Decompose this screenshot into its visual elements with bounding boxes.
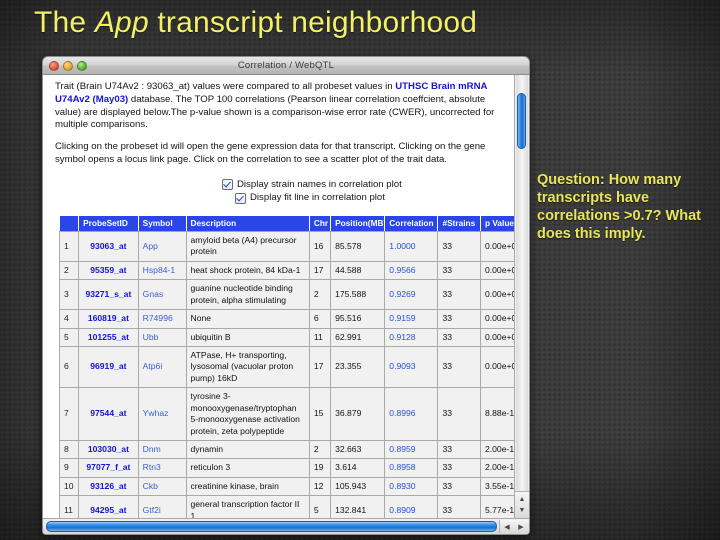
cell-pvalue: 2.00e-15 [480,440,514,458]
table-row: 696919_atAtp6iATPase, H+ transporting, l… [60,346,515,387]
cell-symbol[interactable]: App [138,232,186,262]
cell-pvalue: 8.88e-16 [480,388,514,441]
window-titlebar[interactable]: Correlation / WebQTL [43,57,529,75]
cell-description: dynamin [186,440,309,458]
vertical-scrollbar[interactable]: ▲ ▼ [514,75,529,518]
cell-symbol[interactable]: Ubb [138,328,186,346]
cell-probesetid[interactable]: 160819_at [79,310,139,328]
cell-chr-text: 5 [314,505,319,515]
cell-pvalue-text: 0.00e+00 [485,313,514,323]
cell-correlation-text[interactable]: 0.9269 [389,289,415,299]
cell-pvalue: 5.77e-15 [480,496,514,518]
table-row: 193063_atAppamyloid beta (A4) precursor … [60,232,515,262]
cell-index-text: 10 [64,481,74,491]
cell-description: ubiquitin B [186,328,309,346]
cell-symbol-text[interactable]: Gtf2i [143,505,161,515]
cell-probesetid-text[interactable]: 103030_at [88,444,129,454]
cell-symbol[interactable]: Hsp84-1 [138,261,186,279]
cell-index-text: 2 [64,265,69,275]
cell-pvalue: 0.00e+00 [480,280,514,310]
cell-pvalue-text: 0.00e+00 [485,289,514,299]
cell-symbol[interactable]: Gtf2i [138,496,186,518]
cell-correlation-text[interactable]: 1.0000 [389,241,415,251]
cell-description: guanine nucleotide binding protein, alph… [186,280,309,310]
cell-pvalue-text: 8.88e-16 [485,408,514,418]
cell-chr-text: 11 [314,332,323,342]
cell-probesetid[interactable]: 97077_f_at [79,459,139,477]
cell-position: 95.516 [331,310,385,328]
cell-index: 5 [60,328,79,346]
cell-index: 1 [60,232,79,262]
correlation-table: ProbeSetID Symbol Description Chr Positi… [59,216,514,518]
cell-correlation-text[interactable]: 0.9093 [389,361,415,371]
cell-chr-text: 2 [314,444,319,454]
cell-chr: 6 [309,310,330,328]
cell-pvalue-text: 5.77e-15 [485,505,514,515]
cell-position-text: 36.879 [335,408,361,418]
cell-index: 8 [60,440,79,458]
cell-symbol[interactable]: Atp6i [138,346,186,387]
cell-chr-text: 16 [314,241,324,251]
title-part-after: transcript neighborhood [149,6,477,39]
cell-index: 4 [60,310,79,328]
window-controls [49,61,87,71]
cell-symbol-text[interactable]: R74996 [143,313,173,323]
cell-probesetid[interactable]: 93126_at [79,477,139,495]
cell-symbol[interactable]: R74996 [138,310,186,328]
cell-correlation[interactable]: 0.9093 [385,346,438,387]
cell-chr: 5 [309,496,330,518]
cell-position: 175.588 [331,280,385,310]
cell-pvalue-text: 0.00e+00 [485,265,514,275]
cell-correlation[interactable]: 0.9566 [385,261,438,279]
cell-correlation-text[interactable]: 0.8958 [389,462,415,472]
cell-index-text: 7 [64,408,69,418]
cell-index-text: 3 [64,289,69,299]
cell-description-text: amyloid beta (A4) precursor protein [191,235,297,256]
cell-strains: 33 [438,328,481,346]
cell-correlation-text[interactable]: 0.9128 [389,332,415,342]
cell-index: 9 [60,459,79,477]
intro-paragraph-1: Trait (Brain U74Av2 : 93063_at) values w… [55,81,506,132]
cell-position: 32.663 [331,440,385,458]
cell-chr-text: 15 [314,408,324,418]
cell-pvalue: 2.00e-15 [480,459,514,477]
cell-probesetid[interactable]: 97544_at [79,388,139,441]
cell-symbol-text[interactable]: Ubb [143,332,159,342]
cell-chr: 17 [309,261,330,279]
cell-description: None [186,310,309,328]
cell-strains: 33 [438,440,481,458]
cell-index: 2 [60,261,79,279]
checkbox-checked-icon[interactable] [235,193,246,204]
cell-index: 7 [60,388,79,441]
webqtl-window: Correlation / WebQTL Trait (Brain U74Av2… [42,56,530,535]
intro-text-block: Trait (Brain U74Av2 : 93063_at) values w… [55,81,506,167]
cell-description: creatinine kinase, brain [186,477,309,495]
correlation-table-body: 193063_atAppamyloid beta (A4) precursor … [60,232,515,518]
cell-correlation[interactable]: 0.9128 [385,328,438,346]
table-row: 8103030_atDnmdynamin232.6630.8959332.00e… [60,440,515,458]
cell-strains: 33 [438,261,481,279]
scroll-right-arrow-icon[interactable]: ▶ [518,523,523,531]
cell-position-text: 62.991 [335,332,361,342]
cell-symbol[interactable]: Ckb [138,477,186,495]
cell-strains-text: 33 [442,313,452,323]
cell-correlation-text[interactable]: 0.8996 [389,408,415,418]
cell-chr-text: 17 [314,361,324,371]
cell-pvalue-text: 0.00e+00 [485,332,514,342]
table-header-row: ProbeSetID Symbol Description Chr Positi… [60,216,515,232]
cell-pvalue: 0.00e+00 [480,261,514,279]
cell-strains-text: 33 [442,444,452,454]
cell-correlation-text[interactable]: 0.8930 [389,481,415,491]
cell-pvalue-text: 0.00e+00 [485,241,514,251]
col-header-position[interactable]: Position(MB) [331,216,385,232]
cell-description-text: None [191,313,212,323]
cell-symbol[interactable]: Dnm [138,440,186,458]
option-strain-names-label: Display strain names in correlation plot [237,179,402,192]
cell-symbol[interactable]: Ywhaz [138,388,186,441]
cell-correlation[interactable]: 0.8996 [385,388,438,441]
cell-probesetid[interactable]: 93063_at [79,232,139,262]
cell-position-text: 32.663 [335,444,361,454]
cell-description-text: ATPase, H+ transporting, lysosomal (vacu… [191,350,294,383]
cell-position: 44.588 [331,261,385,279]
cell-symbol[interactable]: Gnas [138,280,186,310]
cell-correlation-text[interactable]: 0.9159 [389,313,415,323]
scroll-left-arrow-icon[interactable]: ◀ [504,523,509,531]
zoom-button-icon[interactable] [77,61,87,71]
slide-canvas: The App transcript neighborhood Question… [0,0,720,540]
cell-pvalue-text: 0.00e+00 [485,361,514,371]
intro-p1-lead: Trait (Brain U74Av2 : 93063_at) values w… [55,81,395,92]
cell-strains-text: 33 [442,408,452,418]
cell-chr: 17 [309,346,330,387]
cell-index: 10 [60,477,79,495]
cell-chr-text: 2 [314,289,319,299]
cell-probesetid[interactable]: 95359_at [79,261,139,279]
table-row: 1194295_atGtf2igeneral transcription fac… [60,496,515,518]
cell-strains: 33 [438,310,481,328]
cell-pvalue-text: 3.55e-15 [485,481,514,491]
cell-correlation[interactable]: 0.8930 [385,477,438,495]
cell-description: reticulon 3 [186,459,309,477]
cell-probesetid-text[interactable]: 93063_at [90,241,126,251]
cell-probesetid-text[interactable]: 95359_at [90,265,126,275]
cell-symbol-text[interactable]: Ywhaz [143,408,169,418]
cell-position-text: 105.943 [335,481,366,491]
cell-chr: 15 [309,388,330,441]
cell-index: 3 [60,280,79,310]
cell-chr: 12 [309,477,330,495]
intro-paragraph-2: Clicking on the probeset id will open th… [55,141,506,167]
cell-probesetid[interactable]: 94295_at [79,496,139,518]
cell-strains: 33 [438,280,481,310]
cell-probesetid-text[interactable]: 96919_at [90,361,126,371]
cell-chr: 11 [309,328,330,346]
col-header-chr[interactable]: Chr [309,216,330,232]
cell-probesetid-text[interactable]: 97077_f_at [86,462,130,472]
cell-symbol-text[interactable]: Gnas [143,289,164,299]
cell-strains-text: 33 [442,481,452,491]
horizontal-scrollbar-thumb[interactable] [46,521,497,532]
cell-position: 3.614 [331,459,385,477]
cell-index-text: 9 [64,462,69,472]
cell-correlation-text[interactable]: 0.8959 [389,444,415,454]
cell-strains-text: 33 [442,505,452,515]
table-row: 295359_atHsp84-1heat shock protein, 84 k… [60,261,515,279]
vertical-scrollbar-thumb[interactable] [517,93,526,149]
cell-correlation-text[interactable]: 0.9566 [389,265,415,275]
vertical-scrollbar-arrows[interactable]: ▲ ▼ [515,491,529,518]
cell-chr: 16 [309,232,330,262]
cell-description: tyrosine 3-monooxygenase/tryptophan 5-mo… [186,388,309,441]
scroll-down-arrow-icon[interactable]: ▼ [519,507,526,514]
cell-strains-text: 33 [442,462,452,472]
col-header-probesetid[interactable]: ProbeSetID [79,216,139,232]
cell-chr: 2 [309,440,330,458]
cell-probesetid-text[interactable]: 160819_at [88,313,129,323]
cell-index-text: 6 [64,361,69,371]
cell-index-text: 1 [64,241,69,251]
cell-position-text: 175.588 [335,289,366,299]
col-header-strains[interactable]: #Strains [438,216,481,232]
cell-strains: 33 [438,232,481,262]
cell-description: heat shock protein, 84 kDa-1 [186,261,309,279]
table-row: 997077_f_atRtn3reticulon 3193.6140.89583… [60,459,515,477]
cell-correlation[interactable]: 0.8959 [385,440,438,458]
cell-index: 6 [60,346,79,387]
cell-index-text: 11 [64,505,73,515]
cell-symbol-text[interactable]: Hsp84-1 [143,265,175,275]
cell-chr-text: 6 [314,313,319,323]
cell-position: 105.943 [331,477,385,495]
cell-description-text: ubiquitin B [191,332,231,342]
title-part-before: The [34,6,95,39]
cell-chr: 19 [309,459,330,477]
cell-probesetid-text[interactable]: 97544_at [90,408,126,418]
cell-index-text: 5 [64,332,69,342]
cell-strains: 33 [438,346,481,387]
option-strain-names-row[interactable]: Display strain names in correlation plot [222,179,506,192]
question-callout: Question: How many transcripts have corr… [537,172,715,244]
cell-position: 85.578 [331,232,385,262]
cell-description-text: dynamin [191,444,223,454]
cell-symbol-text[interactable]: Rtn3 [143,462,161,472]
cell-pvalue: 0.00e+00 [480,232,514,262]
cell-pvalue: 3.55e-15 [480,477,514,495]
cell-symbol-text[interactable]: Ckb [143,481,158,491]
cell-probesetid-text[interactable]: 94295_at [90,505,126,515]
close-button-icon[interactable] [49,61,59,71]
scroll-up-arrow-icon[interactable]: ▲ [519,496,526,503]
cell-pvalue: 0.00e+00 [480,328,514,346]
col-header-description[interactable]: Description [186,216,309,232]
horizontal-scrollbar[interactable]: ◀ ▶ [43,518,529,534]
cell-strains-text: 33 [442,289,452,299]
cell-symbol-text[interactable]: App [143,241,158,251]
cell-description: general transcription factor II 1 [186,496,309,518]
horizontal-scrollbar-arrows[interactable]: ◀ ▶ [499,520,528,533]
cell-pvalue: 0.00e+00 [480,346,514,387]
cell-strains: 33 [438,477,481,495]
col-header-correlation[interactable]: Correlation [385,216,438,232]
cell-strains: 33 [438,459,481,477]
cell-position-text: 95.516 [335,313,361,323]
cell-probesetid[interactable]: 93271_s_at [79,280,139,310]
table-row: 797544_atYwhaztyrosine 3-monooxygenase/t… [60,388,515,441]
col-header-symbol[interactable]: Symbol [138,216,186,232]
cell-chr-text: 17 [314,265,324,275]
cell-strains-text: 33 [442,241,452,251]
cell-description-text: tyrosine 3-monooxygenase/tryptophan 5-mo… [191,391,300,435]
content-row: Trait (Brain U74Av2 : 93063_at) values w… [43,75,529,518]
correlation-table-wrap: ProbeSetID Symbol Description Chr Positi… [59,216,514,518]
page-title: The App transcript neighborhood [34,6,477,40]
cell-description-text: guanine nucleotide binding protein, alph… [191,283,293,304]
page-scroll-area: Trait (Brain U74Av2 : 93063_at) values w… [43,75,514,518]
option-fit-line-label: Display fit line in correlation plot [250,192,385,205]
cell-correlation-text[interactable]: 0.8909 [389,505,415,515]
cell-position-text: 85.578 [335,241,361,251]
cell-chr-text: 12 [314,481,324,491]
cell-pvalue-text: 2.00e-15 [485,444,514,454]
cell-position: 36.879 [331,388,385,441]
cell-chr-text: 19 [314,462,324,472]
cell-pvalue: 0.00e+00 [480,310,514,328]
cell-strains-text: 33 [442,265,452,275]
cell-probesetid-text[interactable]: 93126_at [90,481,126,491]
cell-position-text: 132.841 [335,505,366,515]
page-content: Trait (Brain U74Av2 : 93063_at) values w… [43,75,514,518]
cell-symbol-text[interactable]: Dnm [143,444,161,454]
col-header-index[interactable] [60,216,79,232]
cell-strains: 33 [438,496,481,518]
cell-index-text: 8 [64,444,69,454]
cell-symbol[interactable]: Rtn3 [138,459,186,477]
cell-index-text: 4 [64,313,69,323]
cell-description-text: reticulon 3 [191,462,231,472]
cell-position: 23.355 [331,346,385,387]
cell-probesetid-text[interactable]: 93271_s_at [85,289,131,299]
option-fit-line-row[interactable]: Display fit line in correlation plot [235,192,506,205]
table-row: 5101255_atUbbubiquitin B1162.9910.912833… [60,328,515,346]
table-row: 393271_s_atGnasguanine nucleotide bindin… [60,280,515,310]
cell-position-text: 3.614 [335,462,357,472]
cell-position-text: 44.588 [335,265,361,275]
cell-description-text: heat shock protein, 84 kDa-1 [191,265,301,275]
cell-probesetid[interactable]: 96919_at [79,346,139,387]
cell-position-text: 23.355 [335,361,361,371]
cell-strains-text: 33 [442,361,452,371]
cell-correlation[interactable]: 0.9159 [385,310,438,328]
cell-description: amyloid beta (A4) precursor protein [186,232,309,262]
cell-symbol-text[interactable]: Atp6i [143,361,163,371]
cell-strains: 33 [438,388,481,441]
cell-correlation[interactable]: 0.8958 [385,459,438,477]
cell-description-text: general transcription factor II 1 [191,499,300,518]
table-row: 1093126_atCkbcreatinine kinase, brain121… [60,477,515,495]
title-gene-name: App [95,6,149,39]
cell-probesetid[interactable]: 103030_at [79,440,139,458]
cell-chr: 2 [309,280,330,310]
cell-description: ATPase, H+ transporting, lysosomal (vacu… [186,346,309,387]
minimize-button-icon[interactable] [63,61,73,71]
window-title: Correlation / WebQTL [43,60,529,71]
cell-correlation[interactable]: 0.9269 [385,280,438,310]
cell-description-text: creatinine kinase, brain [191,481,279,491]
cell-correlation[interactable]: 1.0000 [385,232,438,262]
cell-probesetid[interactable]: 101255_at [79,328,139,346]
cell-probesetid-text[interactable]: 101255_at [88,332,129,342]
cell-position: 132.841 [331,496,385,518]
col-header-pvalue[interactable]: p Value [480,216,514,232]
cell-index: 11 [60,496,79,518]
window-body: Trait (Brain U74Av2 : 93063_at) values w… [43,75,529,534]
cell-correlation[interactable]: 0.8909 [385,496,438,518]
cell-pvalue-text: 2.00e-15 [485,462,514,472]
cell-strains-text: 33 [442,332,452,342]
checkbox-checked-icon[interactable] [222,179,233,190]
table-row: 4160819_atR74996None695.5160.9159330.00e… [60,310,515,328]
cell-position: 62.991 [331,328,385,346]
